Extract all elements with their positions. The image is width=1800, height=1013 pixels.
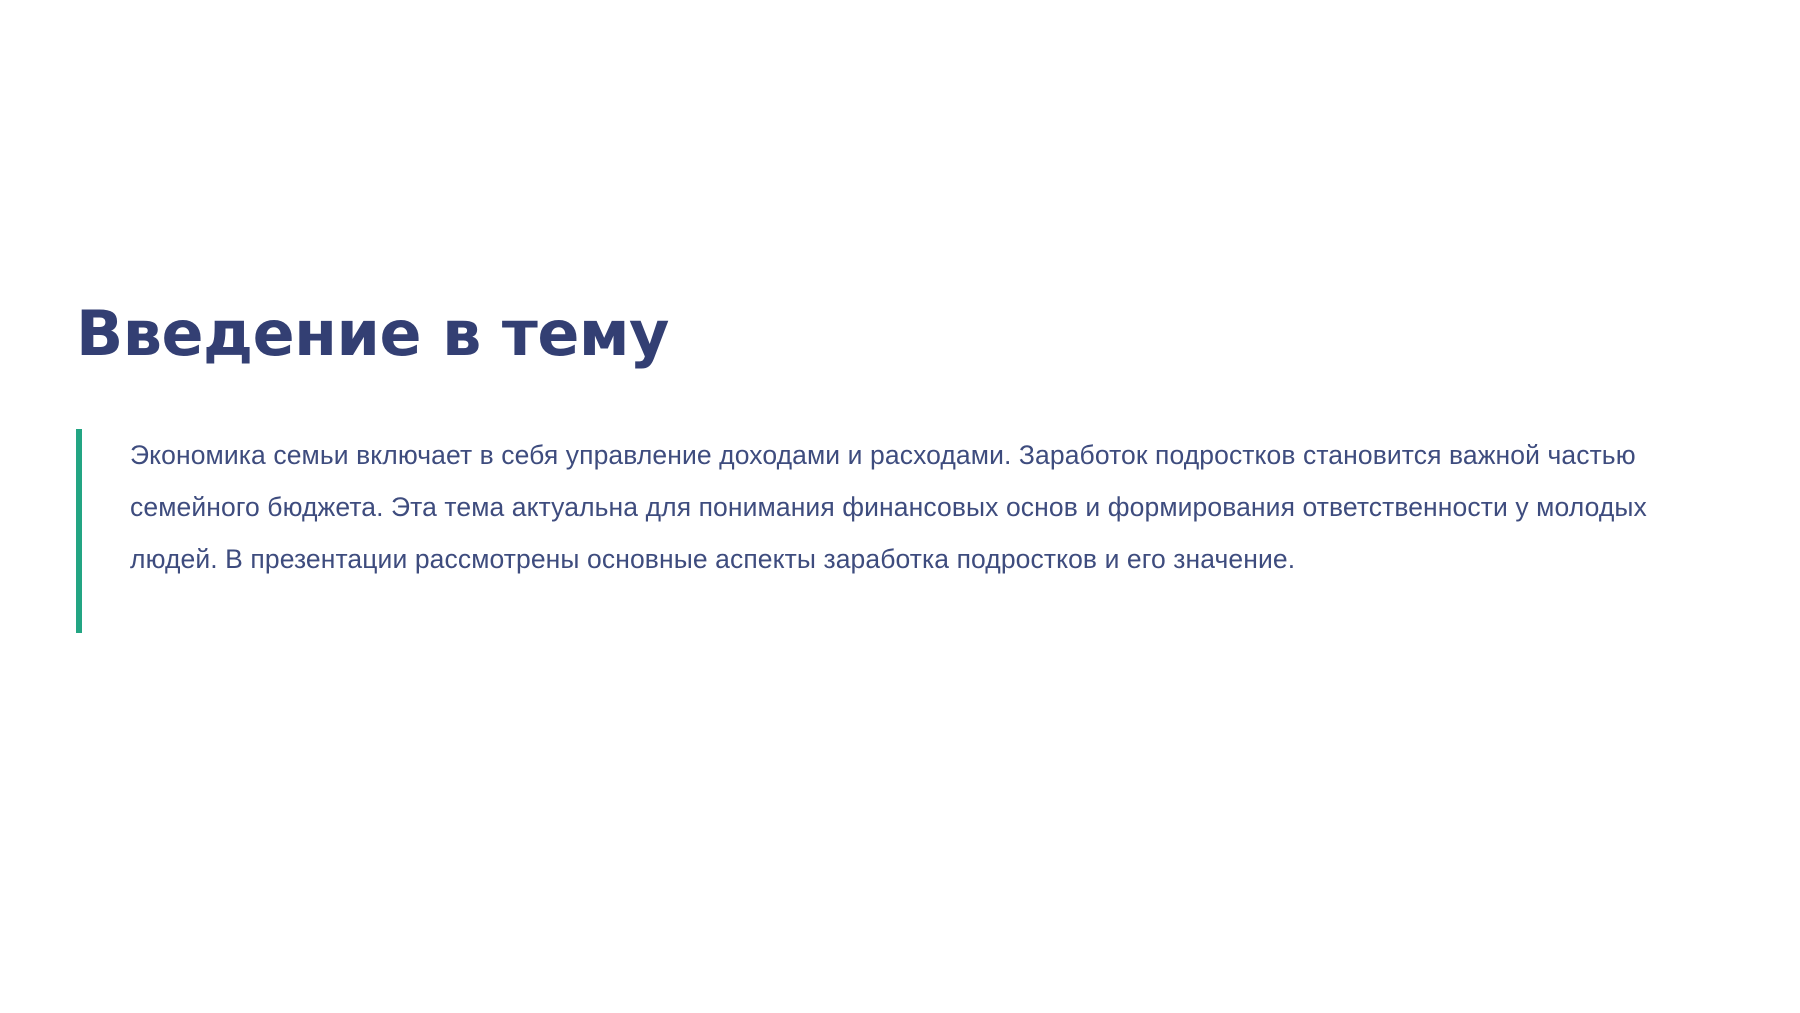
accent-bar (76, 429, 82, 633)
slide-paragraph: Экономика семьи включает в себя управлен… (130, 429, 1730, 585)
lead-paragraph-block: Экономика семьи включает в себя управлен… (76, 429, 1736, 633)
slide-content: Введение в тему Экономика семьи включает… (76, 296, 1736, 633)
presentation-slide: Введение в тему Экономика семьи включает… (0, 0, 1800, 1013)
slide-title: Введение в тему (76, 296, 1736, 372)
